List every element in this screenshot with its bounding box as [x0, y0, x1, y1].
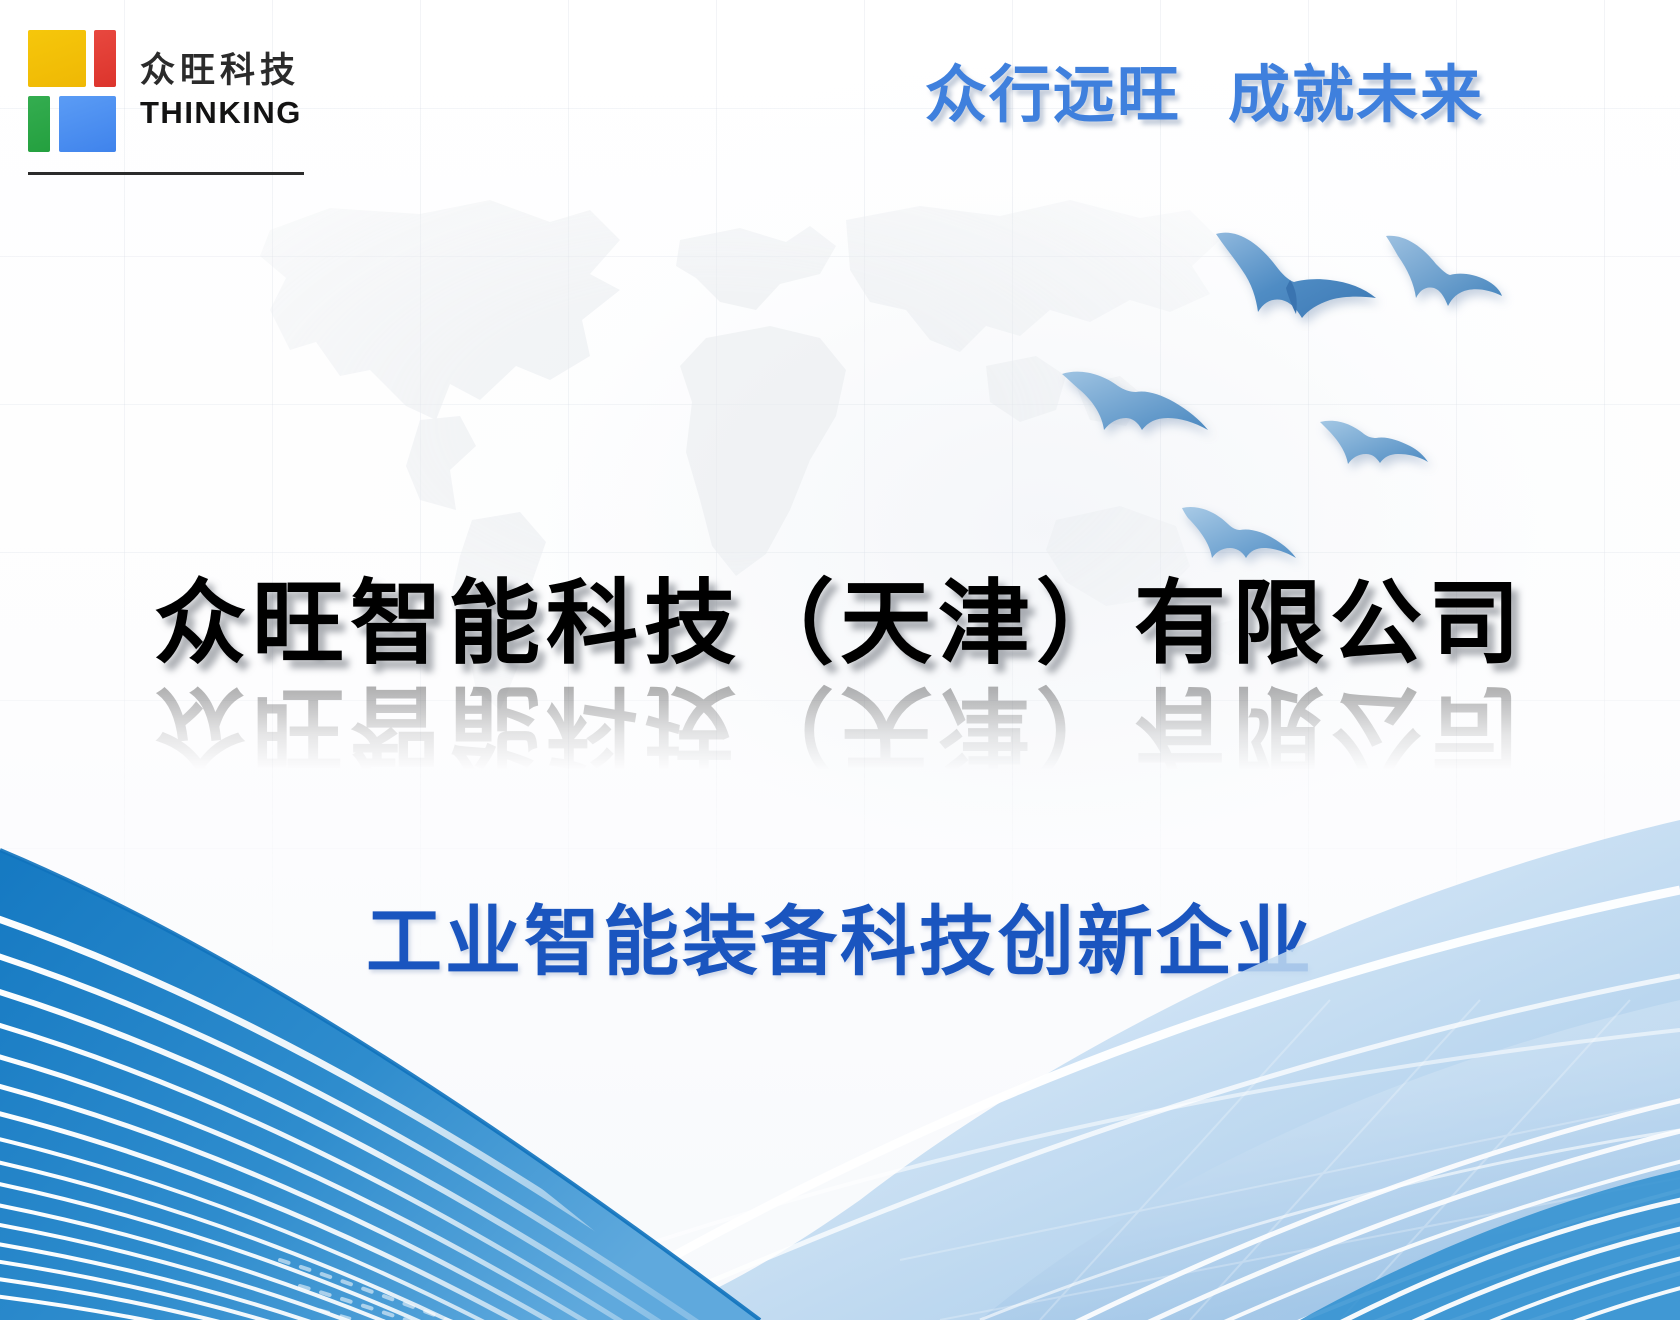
logo-english-name: THINKING	[140, 97, 302, 128]
logo-underline-rule	[28, 172, 304, 175]
company-logo: 众旺科技 THINKING	[28, 30, 302, 152]
logo-blue-block-icon	[59, 96, 116, 152]
logo-chinese-name: 众旺科技	[140, 54, 302, 89]
page-title: 众旺智能科技（天津）有限公司	[0, 574, 1680, 673]
header-tagline: 众行远旺 成就未来	[925, 62, 1484, 127]
logo-mark-icon	[28, 30, 122, 152]
logo-green-block-icon	[28, 96, 50, 152]
title-slide: 众旺科技 THINKING 众行远旺 成就未来	[0, 0, 1680, 1320]
title-block: 众旺智能科技（天津）有限公司 众旺智能科技（天津）有限公司	[0, 574, 1680, 777]
logo-text: 众旺科技 THINKING	[140, 54, 302, 128]
logo-yellow-block-icon	[28, 30, 86, 87]
logo-red-block-icon	[94, 30, 116, 87]
page-subtitle: 工业智能装备科技创新企业	[0, 900, 1680, 984]
page-title-reflection: 众旺智能科技（天津）有限公司	[0, 677, 1680, 776]
